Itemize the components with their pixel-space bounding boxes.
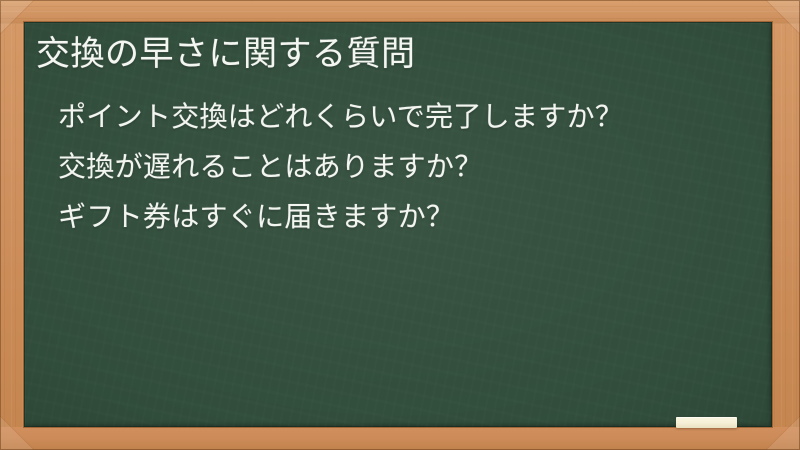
question-item-3: ギフト券はすぐに届きますか？ [58, 203, 750, 231]
chalkboard-slide: 交換の早さに関する質問 ポイント交換はどれくらいで完了しますか？ 交換が遅れるこ… [0, 0, 800, 450]
question-item-2: 交換が遅れることはありますか？ [58, 153, 750, 181]
board-content: 交換の早さに関する質問 ポイント交換はどれくらいで完了しますか？ 交換が遅れるこ… [24, 22, 772, 231]
chalk-stick [676, 417, 737, 428]
chalkboard-surface: 交換の早さに関する質問 ポイント交換はどれくらいで完了しますか？ 交換が遅れるこ… [24, 22, 772, 427]
slide-title: 交換の早さに関する質問 [36, 34, 750, 75]
question-list: ポイント交換はどれくらいで完了しますか？ 交換が遅れることはありますか？ ギフト… [36, 103, 750, 231]
question-item-1: ポイント交換はどれくらいで完了しますか？ [58, 103, 750, 131]
frame-bottom-rail [0, 427, 800, 450]
frame-top-rail [0, 0, 800, 24]
